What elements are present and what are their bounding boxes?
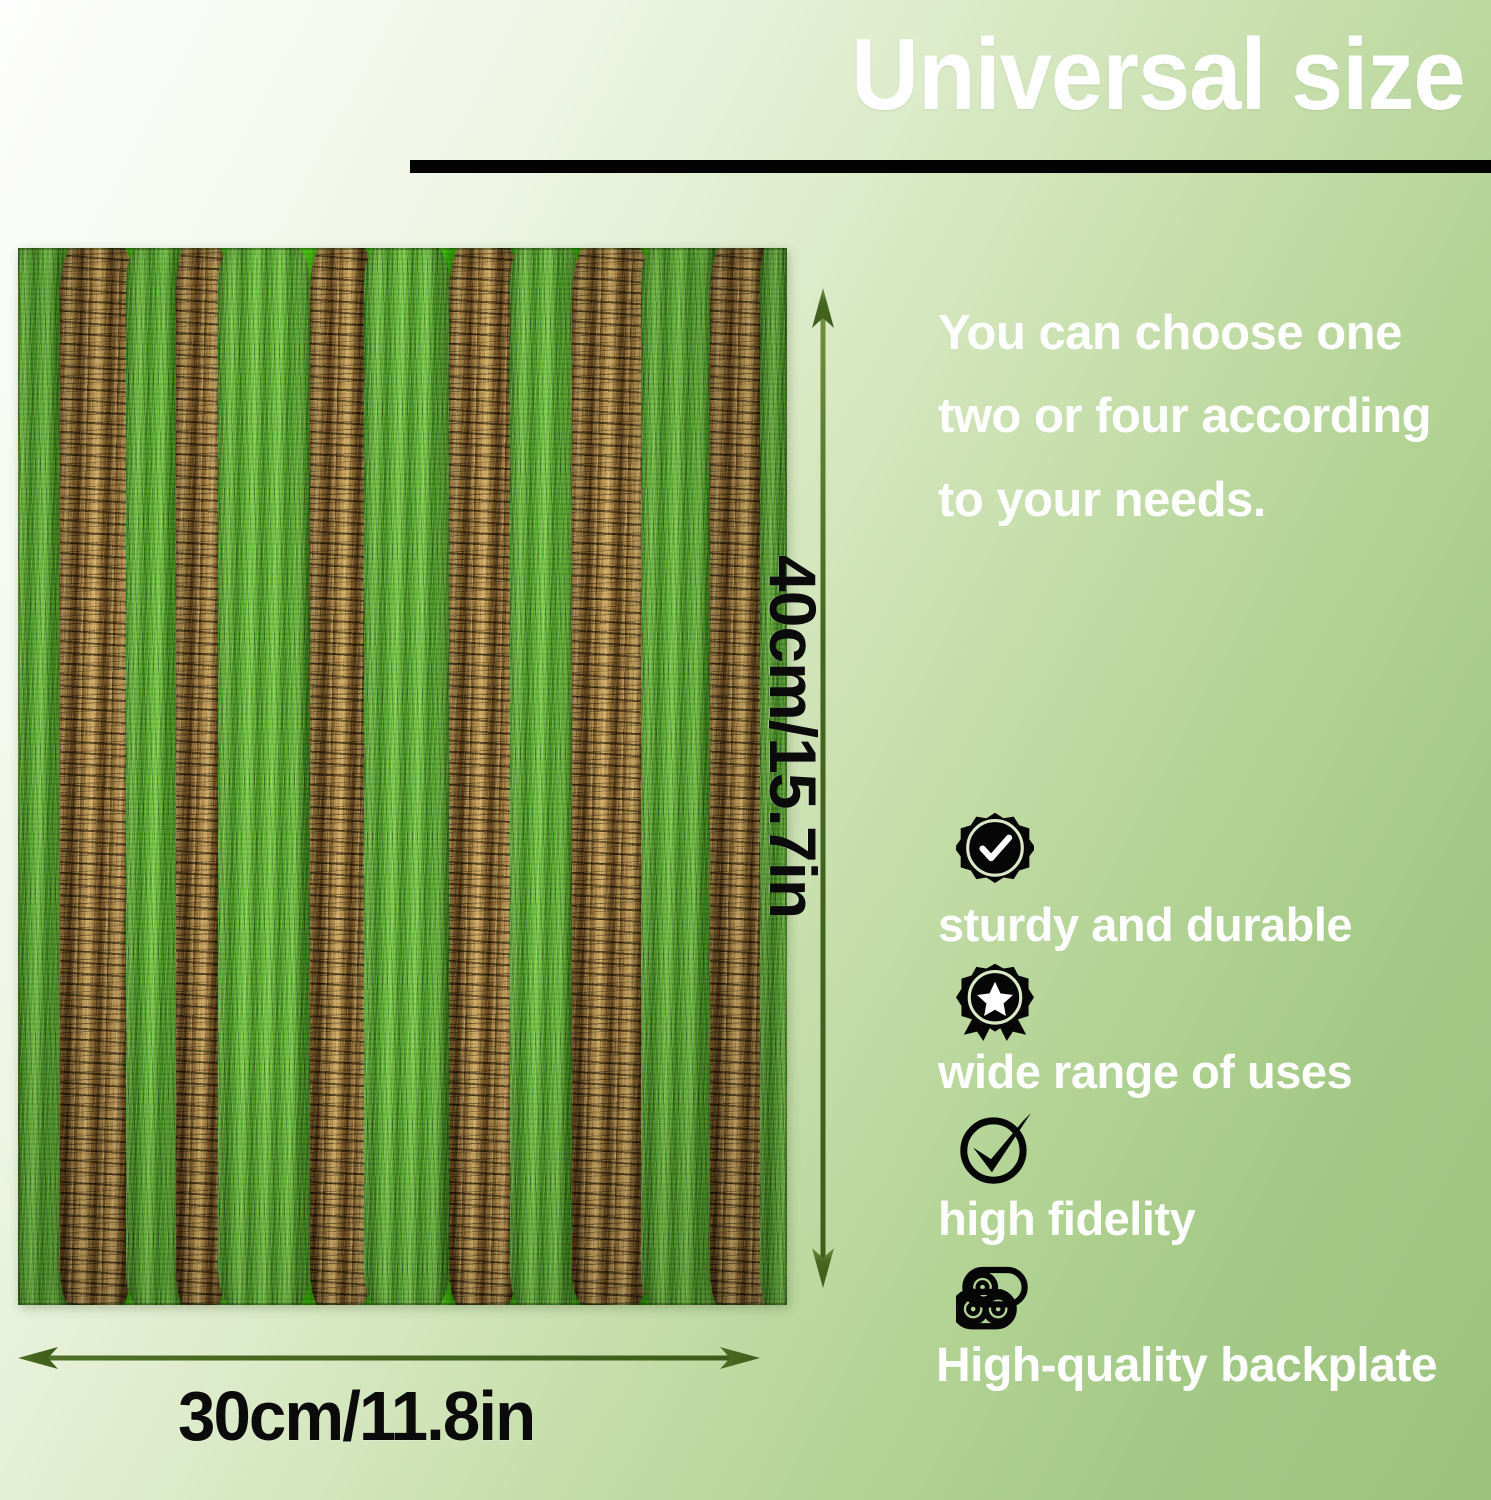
width-dimension-arrow	[18, 1342, 760, 1374]
feature-label: high fidelity	[938, 1194, 1483, 1245]
feature-label: sturdy and durable	[938, 900, 1483, 951]
stacked-logs-icon	[956, 1256, 1034, 1334]
feature-label: High-quality backplate	[936, 1340, 1483, 1392]
body-copy-line: two or four according	[938, 375, 1483, 458]
product-photo	[18, 248, 787, 1305]
body-copy: You can choose one two or four according…	[938, 292, 1483, 542]
photo-edge	[18, 248, 787, 1305]
circle-check-icon	[956, 1110, 1034, 1188]
award-ribbon-star-icon	[956, 963, 1034, 1041]
feature-item-high-fidelity: high fidelity	[938, 1110, 1483, 1245]
feature-list: sturdy and durable wide range of uses	[938, 812, 1483, 1404]
body-copy-line: to your needs.	[938, 459, 1483, 542]
badge-check-icon	[956, 812, 1034, 890]
feature-item-sturdy-and-durable: sturdy and durable	[938, 812, 1483, 951]
width-dimension-label: 30cm/11.8in	[178, 1376, 534, 1456]
infographic-canvas: Universal size	[0, 0, 1491, 1500]
feature-label: wide range of uses	[938, 1047, 1483, 1098]
feature-item-wide-range-of-uses: wide range of uses	[938, 963, 1483, 1098]
title-divider-rule	[410, 160, 1491, 173]
page-title: Universal size	[851, 22, 1465, 128]
body-copy-line: You can choose one	[938, 292, 1483, 375]
feature-item-high-quality-backplate: High-quality backplate	[938, 1256, 1483, 1392]
height-dimension-label: 40cm/15.7in	[755, 555, 831, 918]
